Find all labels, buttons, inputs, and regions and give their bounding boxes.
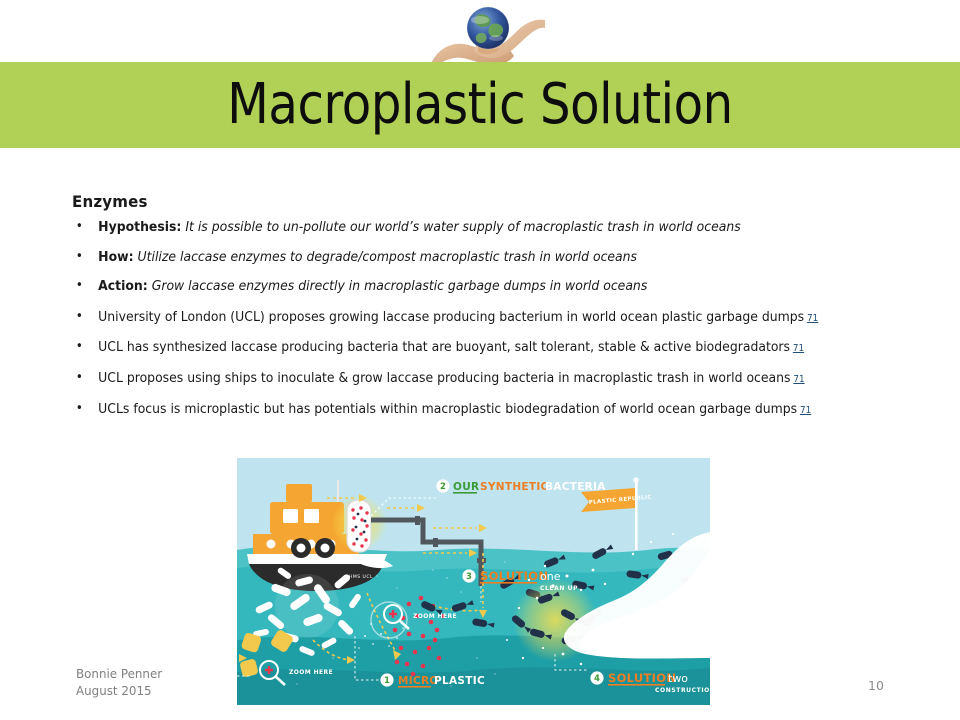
reference-link[interactable]: 71 xyxy=(793,343,804,354)
step-4-sub: CONSTRUCTION xyxy=(655,687,710,694)
step-2-text-a: OUR xyxy=(453,481,479,493)
reference-link[interactable]: 71 xyxy=(807,313,818,324)
step-3-text-b: one xyxy=(540,570,561,583)
step-4-text-a: SOLUTION xyxy=(608,671,676,685)
step-2-label: 2 OUR SYNTHETIC BACTERIA xyxy=(436,479,606,493)
page-title: Macroplastic Solution xyxy=(67,62,893,148)
footer-author: Bonnie Penner xyxy=(76,666,162,683)
footer-author-block: Bonnie Penner August 2015 xyxy=(76,666,162,700)
step-2-number: 2 xyxy=(440,482,446,492)
step-1-text-a: MICRO xyxy=(398,675,439,687)
content-body: Enzymes Hypothesis: It is possible to un… xyxy=(72,192,952,432)
step-4-text-b: two xyxy=(668,672,688,685)
step-3-number: 3 xyxy=(466,572,472,582)
slide: Macroplastic Solution Enzymes Hypothesis… xyxy=(0,0,960,720)
reference-link[interactable]: 71 xyxy=(793,374,804,385)
bullet-lead: Hypothesis: xyxy=(98,220,181,235)
zoom-here-label-left: ZOOM HERE xyxy=(289,669,333,676)
reference-link[interactable]: 71 xyxy=(800,405,811,416)
bullet-item: How: Utilize laccase enzymes to degrade/… xyxy=(72,250,895,267)
bullet-text: It is possible to un-pollute our world’s… xyxy=(185,220,740,235)
bullet-text: UCLs focus is microplastic but has poten… xyxy=(98,402,797,417)
step-3-sub: CLEAN UP xyxy=(540,585,578,592)
step-4-number: 4 xyxy=(594,674,600,684)
bullet-text: University of London (UCL) proposes grow… xyxy=(98,310,804,325)
step-2-text-c: BACTERIA xyxy=(545,481,606,493)
bullet-item: University of London (UCL) proposes grow… xyxy=(72,310,895,327)
footer-date: August 2015 xyxy=(76,683,162,700)
bullet-text: UCL has synthesized laccase producing ba… xyxy=(98,340,790,355)
bullet-text: Utilize laccase enzymes to degrade/compo… xyxy=(138,250,637,265)
bullet-item: Hypothesis: It is possible to un-pollute… xyxy=(72,220,895,237)
bullet-list: Hypothesis: It is possible to un-pollute… xyxy=(72,220,952,418)
zoom-here-label-right: ZOOM HERE xyxy=(413,613,457,620)
bullet-lead: Action: xyxy=(98,279,148,294)
page-number: 10 xyxy=(868,678,884,693)
bullet-item: UCLs focus is microplastic but has poten… xyxy=(72,402,895,419)
step-1-number: 1 xyxy=(384,676,390,686)
bullet-item: UCL has synthesized laccase producing ba… xyxy=(72,340,895,357)
earth-in-hand-logo xyxy=(430,0,545,68)
step-2-text-b: SYNTHETIC xyxy=(480,481,549,493)
boat-hull-label: HMS UCL xyxy=(349,574,373,580)
step-1-text-b: PLASTIC xyxy=(434,675,485,687)
section-heading: Enzymes xyxy=(72,192,899,211)
bullet-lead: How: xyxy=(98,250,133,265)
plastic-republic-infographic: HMS UCL xyxy=(237,458,710,705)
bullet-item: Action: Grow laccase enzymes directly in… xyxy=(72,279,895,296)
bullet-text: Grow laccase enzymes directly in macropl… xyxy=(152,279,648,294)
step-3-text-a: SOLUTION xyxy=(480,569,548,583)
bullet-text: UCL proposes using ships to inoculate & … xyxy=(98,371,790,386)
bullet-item: UCL proposes using ships to inoculate & … xyxy=(72,371,895,388)
